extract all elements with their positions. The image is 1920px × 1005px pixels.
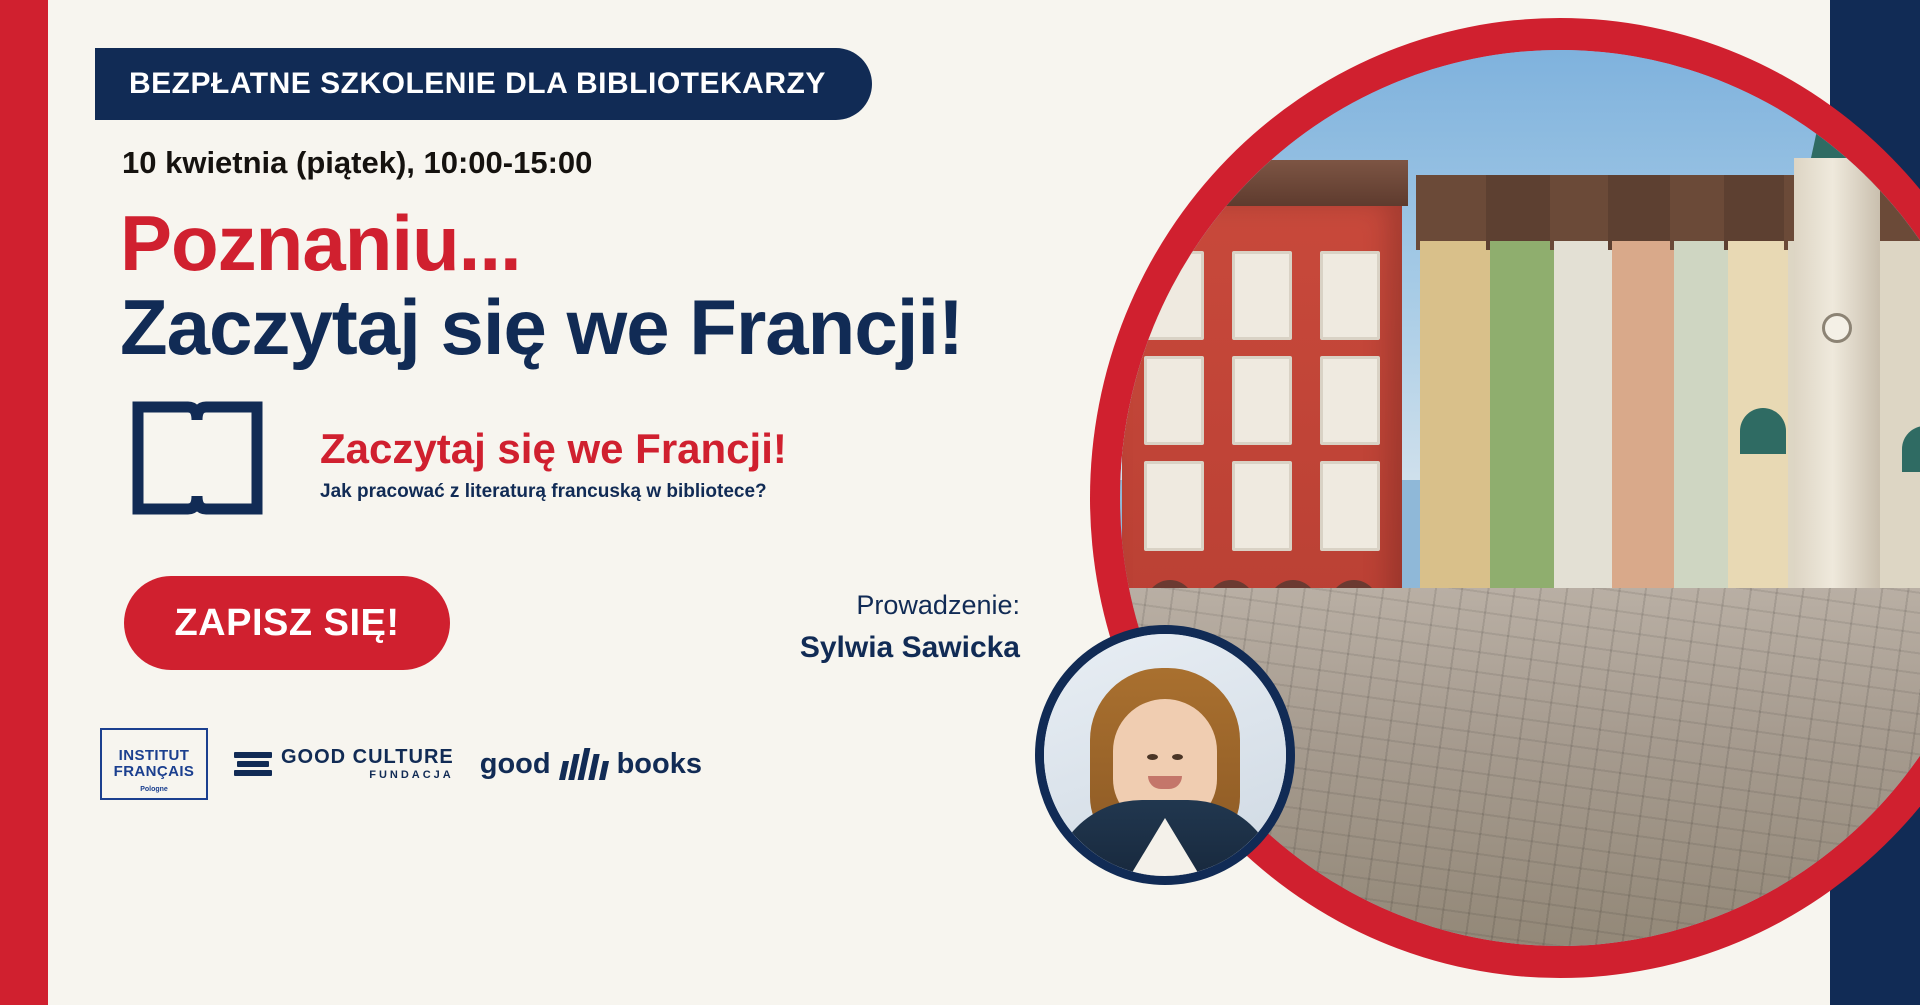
speaker-name: Sylwia Sawicka <box>720 631 1020 665</box>
speaker-block: Prowadzenie: Sylwia Sawicka <box>720 590 1020 665</box>
goodbooks-word2: books <box>617 748 702 781</box>
signup-button[interactable]: ZAPISZ SIĘ! <box>124 576 450 670</box>
event-date-time: 10 kwietnia (piątek), 10:00-15:00 <box>122 145 592 181</box>
book-pages-icon <box>555 748 613 780</box>
green-dome-left <box>1740 408 1786 454</box>
good-culture-type: FUNDACJA <box>281 769 454 782</box>
goodbooks-word1: good <box>480 748 551 781</box>
logo-institut-francais: INSTITUT FRANÇAIS Pologne <box>100 728 208 800</box>
books-stack-icon <box>234 745 272 783</box>
program-logo-lockup: Zaczytaj się we Francji! Jak pracować z … <box>130 393 770 543</box>
institut-line2: FRANÇAIS <box>114 764 195 780</box>
program-logo-title: Zaczytaj się we Francji! <box>320 425 787 473</box>
partner-logos: INSTITUT FRANÇAIS Pologne GOOD CULTURE F… <box>100 728 702 800</box>
good-culture-name: GOOD CULTURE <box>281 746 454 769</box>
speaker-lead-label: Prowadzenie: <box>720 590 1020 621</box>
badge-label: BEZPŁATNE SZKOLENIE DLA BIBLIOTEKARZY <box>129 67 826 101</box>
headline-main: Zaczytaj się we Francji! <box>120 288 963 366</box>
program-logo-subtitle: Jak pracować z literaturą francuską w bi… <box>320 481 767 503</box>
training-type-badge: BEZPŁATNE SZKOLENIE DLA BIBLIOTEKARZY <box>95 48 872 120</box>
logo-goodbooks: good books <box>480 748 702 781</box>
logo-good-culture: GOOD CULTURE FUNDACJA <box>234 745 454 783</box>
open-book-icon <box>130 393 265 523</box>
institut-country: Pologne <box>140 786 168 793</box>
institut-line1: INSTITUT <box>119 748 190 764</box>
signup-button-label: ZAPISZ SIĘ! <box>174 602 399 645</box>
speaker-portrait-photo <box>1035 625 1295 885</box>
headline-city: Poznaniu... <box>120 204 521 282</box>
banner-canvas: BEZPŁATNE SZKOLENIE DLA BIBLIOTEKARZY 10… <box>0 0 1920 1005</box>
left-red-bar <box>0 0 48 1005</box>
